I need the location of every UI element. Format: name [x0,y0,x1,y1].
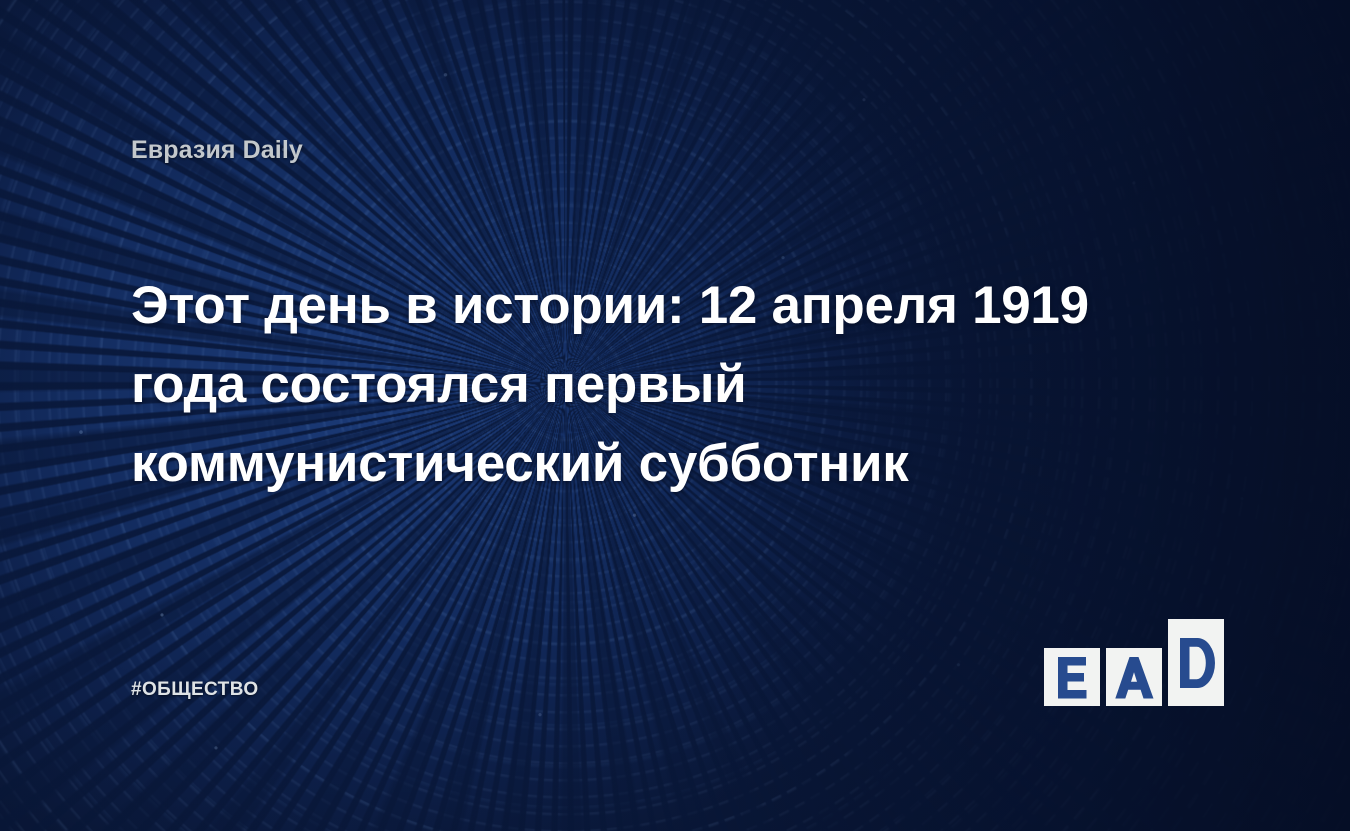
category-tag[interactable]: #ОБЩЕСТВО [131,679,259,701]
site-brand-label: Евразия Daily [131,136,303,165]
logo-d-lower-clip [1168,648,1224,706]
eadaily-logo[interactable] [1044,619,1226,711]
article-share-card: Евразия Daily Этот день в истории: 12 ап… [0,0,1350,831]
logo-tile-a [1106,648,1162,706]
logo-d-lower-glyph [1168,648,1224,697]
logo-tile-e [1044,648,1100,706]
card-content: Евразия Daily Этот день в истории: 12 ап… [0,0,1350,831]
headline-title: Этот день в истории: 12 апреля 1919 года… [131,266,1141,503]
